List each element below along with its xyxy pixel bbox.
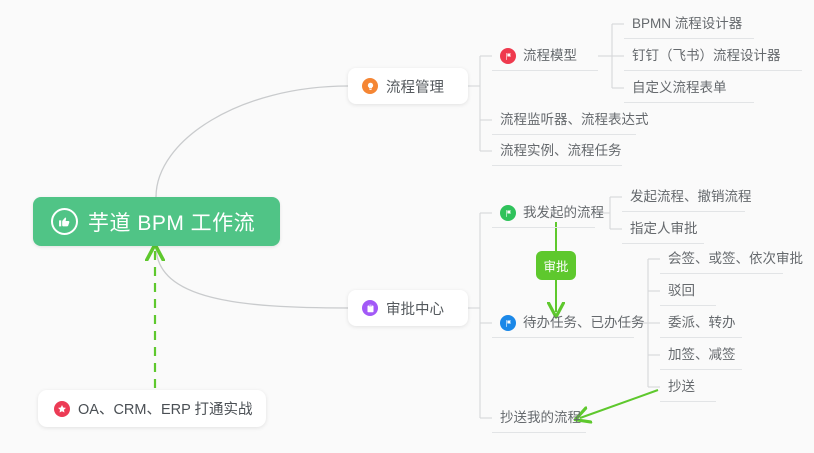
flag-red-icon: [500, 48, 516, 64]
leaf-custom-flow-form[interactable]: 自定义流程表单: [624, 76, 754, 103]
thumbs-up-icon: [51, 208, 78, 235]
approval-arrow-badge-label: 审批: [543, 256, 568, 275]
root-node[interactable]: 芋道 BPM 工作流: [33, 197, 280, 246]
mindmap-canvas: 芋道 BPM 工作流 流程管理 流程模型 BPMN 流程设计器 钉钉（飞书）流程…: [0, 0, 814, 453]
leaf-label-flow-model: 流程模型: [523, 47, 577, 65]
flag-blue-icon: [500, 315, 516, 331]
leaf-add-remove-sign[interactable]: 加签、减签: [660, 343, 742, 370]
branch-label-approval-center: 审批中心: [386, 298, 444, 319]
edge-root-to-approval-center: [156, 246, 348, 308]
branch-node-approval-center[interactable]: 审批中心: [348, 290, 468, 326]
branch-label-flow-management: 流程管理: [386, 76, 444, 97]
lightbulb-icon: [362, 78, 378, 94]
integration-card[interactable]: OA、CRM、ERP 打通实战: [38, 390, 266, 427]
branch-node-flow-management[interactable]: 流程管理: [348, 68, 468, 104]
leaf-cc[interactable]: 抄送: [660, 375, 716, 402]
edge-root-to-flow-management: [156, 86, 348, 197]
approval-arrow-badge: 审批: [536, 251, 576, 280]
leaf-countersign-modes[interactable]: 会签、或签、依次审批: [660, 247, 783, 274]
leaf-reject[interactable]: 驳回: [660, 279, 716, 306]
leaf-start-cancel-flow[interactable]: 发起流程、撤销流程: [622, 185, 745, 212]
leaf-cc-to-me-flows[interactable]: 抄送我的流程: [492, 406, 586, 433]
leaf-flow-instance-task[interactable]: 流程实例、流程任务: [492, 139, 622, 166]
leaf-todo-done-tasks[interactable]: 待办任务、已办任务: [492, 311, 634, 338]
leaf-assign-approver[interactable]: 指定人审批: [622, 217, 704, 244]
leaf-bpmn-designer[interactable]: BPMN 流程设计器: [624, 12, 754, 39]
root-label: 芋道 BPM 工作流: [88, 207, 255, 237]
leaf-my-started-flows[interactable]: 我发起的流程: [492, 201, 595, 228]
cc-flow-arrow: [580, 390, 658, 418]
leaf-label-my-started-flows: 我发起的流程: [523, 204, 604, 222]
leaf-dingtalk-designer[interactable]: 钉钉（飞书）流程设计器: [624, 44, 802, 71]
leaf-flow-listener-expression[interactable]: 流程监听器、流程表达式: [492, 108, 636, 135]
clipboard-icon: [362, 300, 378, 316]
leaf-flow-model[interactable]: 流程模型: [492, 44, 598, 71]
integration-card-label: OA、CRM、ERP 打通实战: [78, 398, 253, 419]
star-icon: [54, 401, 70, 417]
leaf-delegate-transfer[interactable]: 委派、转办: [660, 311, 742, 338]
leaf-label-todo-done-tasks: 待办任务、已办任务: [523, 314, 645, 332]
flag-green-icon: [500, 205, 516, 221]
